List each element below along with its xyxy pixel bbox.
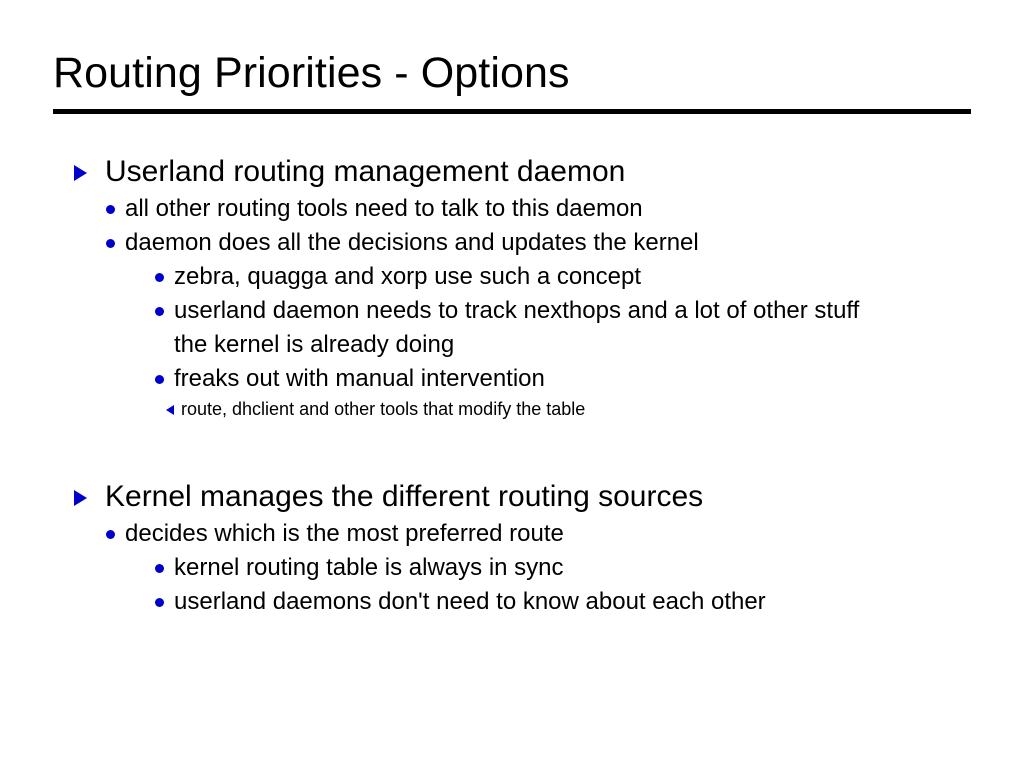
round-dot-bullet-icon	[155, 375, 164, 384]
outline-level3-item: userland daemon needs to track nexthops …	[0, 294, 1024, 362]
title-block: Routing Priorities - Options	[53, 48, 971, 98]
outline-text: Kernel manages the different routing sou…	[105, 477, 964, 517]
outline-level2-item: all other routing tools need to talk to …	[0, 192, 1024, 226]
outline-level4-item: route, dhclient and other tools that mod…	[0, 396, 1024, 423]
round-dot-bullet-icon	[155, 598, 164, 607]
outline-level2-item: daemon does all the decisions and update…	[0, 226, 1024, 260]
right-triangle-bullet-icon	[74, 165, 87, 181]
outline-text: freaks out with manual intervention	[174, 362, 885, 396]
left-triangle-bullet-icon	[166, 405, 174, 415]
outline-text: kernel routing table is always in sync	[174, 551, 885, 585]
round-dot-bullet-icon	[106, 205, 115, 214]
right-triangle-bullet-icon	[74, 490, 87, 506]
outline-level3-item: kernel routing table is always in sync	[0, 551, 1024, 585]
outline-text: daemon does all the decisions and update…	[125, 226, 874, 260]
outline-level1-heading: Userland routing management daemon	[0, 152, 1024, 192]
outline-level1-heading: Kernel manages the different routing sou…	[0, 477, 1024, 517]
section-spacer	[0, 423, 1024, 477]
round-dot-bullet-icon	[155, 307, 164, 316]
round-dot-bullet-icon	[155, 564, 164, 573]
page-title: Routing Priorities - Options	[53, 48, 971, 98]
outline-level2-item: decides which is the most preferred rout…	[0, 517, 1024, 551]
title-underline-rule	[53, 109, 971, 114]
outline-body: Userland routing management daemon all o…	[0, 152, 1024, 619]
round-dot-bullet-icon	[155, 273, 164, 282]
outline-text: route, dhclient and other tools that mod…	[181, 396, 874, 423]
round-dot-bullet-icon	[106, 530, 115, 539]
outline-text: Userland routing management daemon	[105, 152, 964, 192]
slide-canvas: Routing Priorities - Options Userland ro…	[0, 0, 1024, 768]
round-dot-bullet-icon	[106, 239, 115, 248]
outline-text: all other routing tools need to talk to …	[125, 192, 874, 226]
outline-text: userland daemons don't need to know abou…	[174, 585, 885, 619]
outline-text: decides which is the most preferred rout…	[125, 517, 874, 551]
outline-level3-item: freaks out with manual intervention	[0, 362, 1024, 396]
outline-level3-item: userland daemons don't need to know abou…	[0, 585, 1024, 619]
outline-text: zebra, quagga and xorp use such a concep…	[174, 260, 885, 294]
outline-level3-item: zebra, quagga and xorp use such a concep…	[0, 260, 1024, 294]
outline-text: userland daemon needs to track nexthops …	[174, 294, 885, 362]
